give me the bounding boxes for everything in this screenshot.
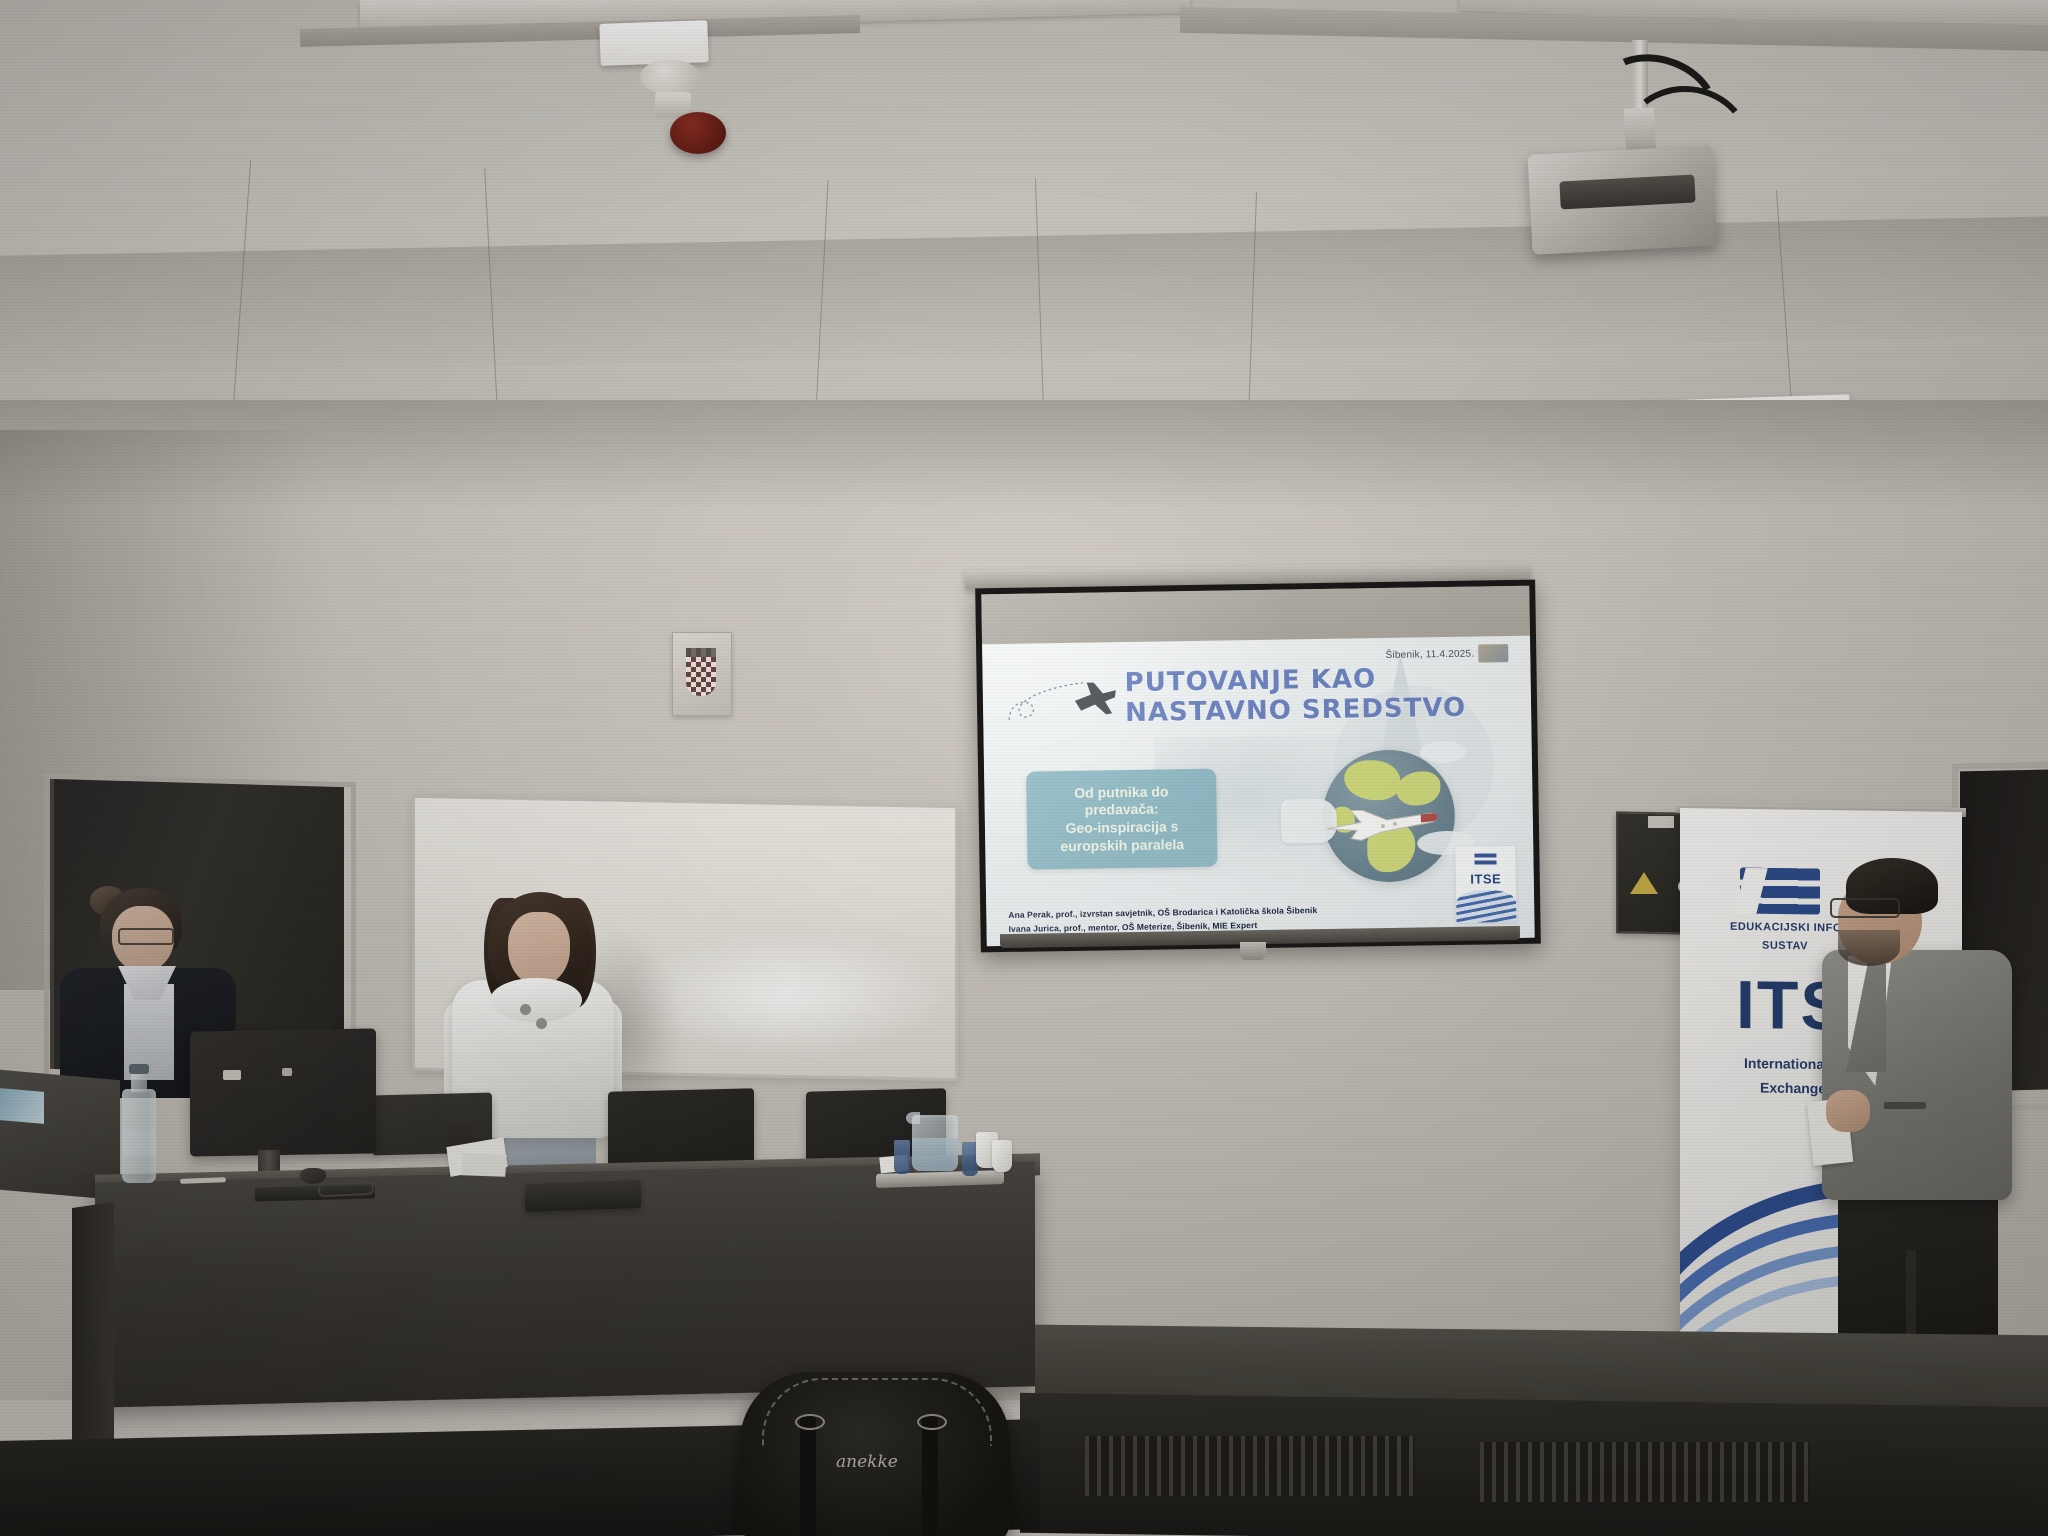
classroom-photo: Šibenik, 11.4.2025. PUTOVANJE KAO NASTAV… — [0, 0, 2048, 1536]
standing-woman-face — [508, 912, 570, 986]
jet-airliner-icon — [1321, 803, 1442, 843]
eyeglasses-icon — [1830, 898, 1900, 918]
white-cup[interactable] — [992, 1140, 1012, 1172]
paper-sheet[interactable] — [461, 1153, 507, 1176]
globe-landmass — [1396, 771, 1441, 806]
screen-surface: Šibenik, 11.4.2025. PUTOVANJE KAO NASTAV… — [981, 586, 1534, 947]
globe-landmass — [1344, 760, 1401, 801]
bench-vent-grille — [1480, 1442, 1810, 1502]
hoodie-cowl-neck — [490, 978, 582, 1022]
standing-man-beard — [1838, 930, 1900, 966]
smoke-detector-icon — [640, 60, 700, 94]
projection-screen-pull-handle[interactable] — [1240, 942, 1266, 960]
pitcher-water-level — [912, 1138, 958, 1171]
backpack-d-ring — [917, 1414, 947, 1430]
backpack-strap — [922, 1416, 938, 1536]
callout-line: Od putnika do — [1074, 784, 1168, 801]
slide-title-line-2: NASTAVNO SREDSTVO — [1125, 695, 1466, 726]
backpack-d-ring — [795, 1414, 825, 1430]
hoodie-button — [536, 1018, 547, 1029]
airplane-icon — [1071, 680, 1120, 721]
slide-date-label: Šibenik, 11.4.2025. — [1386, 649, 1475, 661]
monitor-webcam-icon — [282, 1068, 292, 1076]
standing-man-hands — [1826, 1090, 1870, 1132]
slide-callout-box: Od putnika do predavača: Geo-inspiracija… — [1026, 769, 1218, 870]
closed-laptop[interactable] — [525, 1180, 641, 1212]
screen-dead-band — [981, 586, 1530, 645]
bottle-neck — [131, 1072, 147, 1092]
slide-itse-logo: ITSE — [1455, 846, 1516, 923]
coat-of-arms-checkerboard — [686, 657, 716, 696]
fire-alarm-icon — [670, 112, 726, 154]
banner-org-line-2: SUSTAV — [1762, 940, 1808, 953]
blue-drinking-glass[interactable] — [894, 1140, 910, 1174]
backpack-strap — [800, 1416, 816, 1536]
hoodie-button — [520, 1004, 531, 1015]
itse-logo-word: ITSE — [1470, 871, 1501, 886]
warning-triangle-icon — [1630, 872, 1658, 894]
water-bottle[interactable] — [122, 1089, 156, 1183]
monitor-logo — [223, 1070, 241, 1080]
mouse[interactable] — [300, 1168, 326, 1184]
bottle-cap[interactable] — [129, 1064, 149, 1074]
itse-logo-waves — [1456, 890, 1516, 923]
bench-vent-grille — [1085, 1436, 1415, 1496]
callout-line: europskih paralela — [1060, 837, 1184, 855]
emergency-light-icon — [599, 20, 708, 66]
blazer-pocket — [1884, 1102, 1926, 1109]
panel-label — [1648, 816, 1674, 828]
eyeglasses-on-desk-icon[interactable] — [318, 1181, 375, 1198]
presentation-slide: Šibenik, 11.4.2025. PUTOVANJE KAO NASTAV… — [982, 636, 1535, 947]
callout-line: Geo-inspiracija s — [1065, 819, 1178, 836]
backpack-flap-stitching — [762, 1378, 992, 1446]
banner-subtitle-line-2: Exchange — [1760, 1080, 1826, 1097]
desktop-monitor[interactable] — [190, 1028, 376, 1156]
eyeglasses-icon — [118, 928, 174, 945]
projection-screen: Šibenik, 11.4.2025. PUTOVANJE KAO NASTAV… — [975, 580, 1541, 953]
eis-logo-mark — [1474, 853, 1496, 866]
callout-line: predavača: — [1085, 802, 1159, 819]
pitcher-spout — [906, 1112, 920, 1124]
slide-title-line-1: PUTOVANJE KAO — [1124, 666, 1376, 696]
backpack-brand-text: anekke — [836, 1452, 898, 1472]
slide-corner-badge — [1478, 644, 1508, 662]
slide-credit-line: Ana Perak, prof., izvrstan savjetnik, OŠ… — [1008, 905, 1317, 920]
coat-of-arms-crown — [686, 648, 716, 657]
side-counter-item — [0, 1088, 44, 1124]
